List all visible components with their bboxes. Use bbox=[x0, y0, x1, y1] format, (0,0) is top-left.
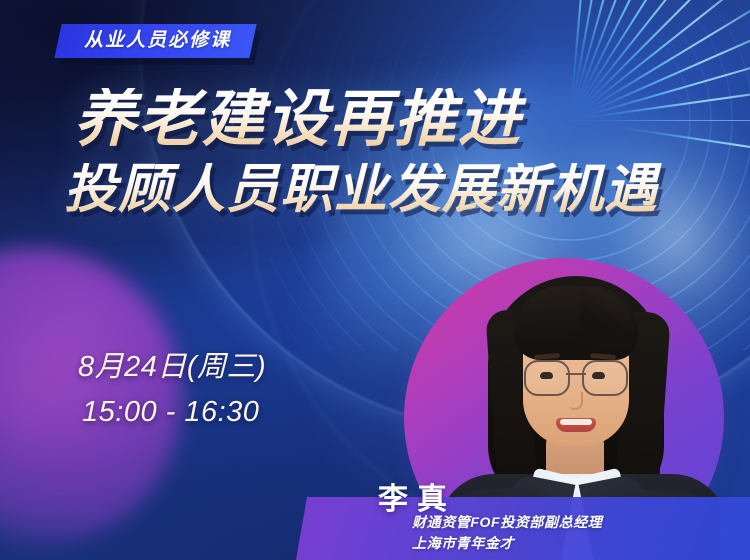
event-time: 15:00 - 16:30 bbox=[78, 390, 266, 435]
category-badge-label: 从业人员必修课 bbox=[84, 31, 231, 50]
glasses-lens-left bbox=[524, 360, 570, 396]
speaker-title-line-1: 财通资管FOF投资部副总经理 bbox=[412, 512, 602, 533]
glasses-bridge bbox=[566, 373, 586, 375]
glasses-lens-right bbox=[582, 360, 628, 396]
speaker-title-line-2: 上海市青年金才 bbox=[412, 533, 602, 554]
portrait-teeth bbox=[560, 419, 592, 425]
schedule-block: 8月24日(周三) 15:00 - 16:30 bbox=[78, 345, 266, 435]
event-date: 8月24日(周三) bbox=[78, 345, 266, 390]
portrait-glasses bbox=[524, 360, 628, 394]
speaker-credentials: 财通资管FOF投资部副总经理 上海市青年金才 bbox=[412, 512, 602, 555]
promo-poster: 从业人员必修课 养老建设再推进 投顾人员职业发展新机遇 8月24日(周三) 15… bbox=[0, 0, 750, 560]
page-title: 养老建设再推进 投顾人员职业发展新机遇 bbox=[74, 88, 714, 217]
category-badge: 从业人员必修课 bbox=[54, 24, 256, 58]
title-line-2: 投顾人员职业发展新机遇 bbox=[64, 163, 714, 217]
title-line-1: 养老建设再推进 bbox=[74, 88, 714, 151]
